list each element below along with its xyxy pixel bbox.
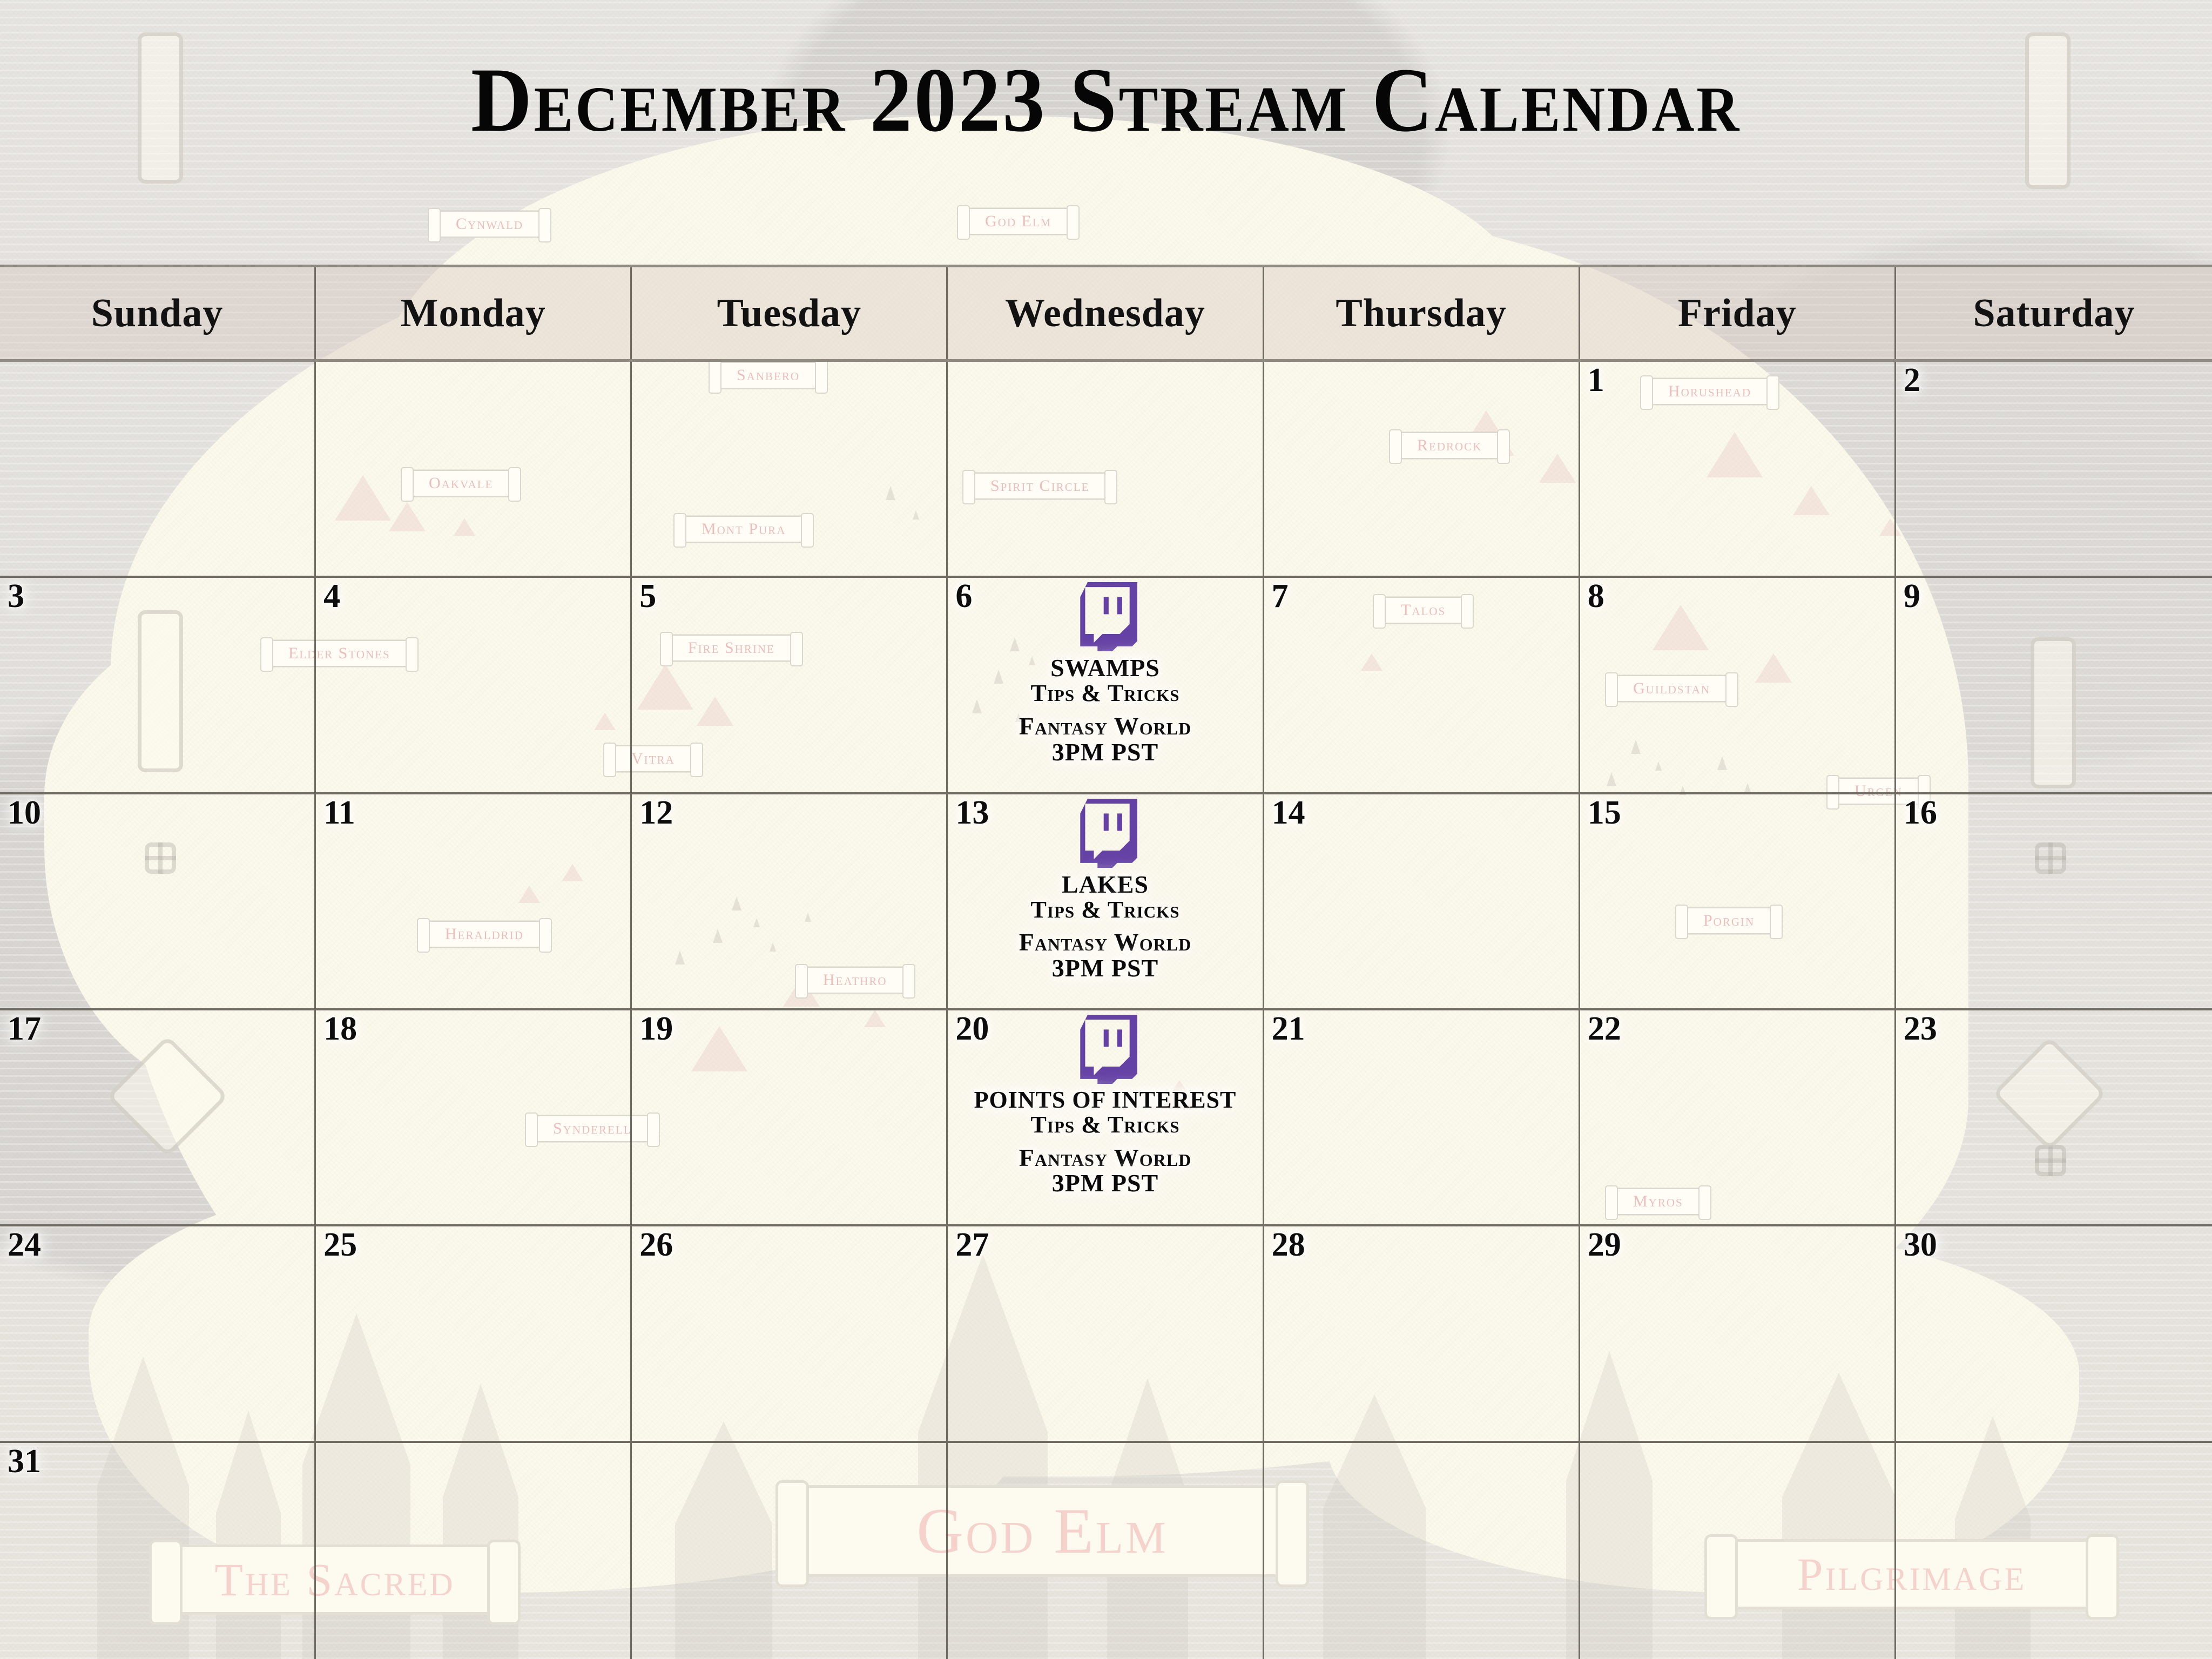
day-number: 18: [323, 1011, 357, 1047]
calendar-page: Cynwald God Elm Sanbero Oakvale Mont Pur…: [0, 0, 2212, 1659]
calendar-day-18[interactable]: 18: [316, 1010, 632, 1224]
weekday-header-thursday: Thursday: [1264, 267, 1580, 359]
weekday-header-wednesday: Wednesday: [948, 267, 1264, 359]
calendar-day-10[interactable]: 10: [0, 794, 316, 1008]
calendar-day-11[interactable]: 11: [316, 794, 632, 1008]
day-number: 30: [1904, 1228, 1937, 1263]
twitch-icon: [1073, 1015, 1137, 1084]
map-place-label: God Elm: [967, 208, 1070, 235]
calendar-day-empty[interactable]: [316, 1443, 632, 1659]
calendar-day-12[interactable]: 12: [632, 794, 948, 1008]
day-number: 10: [8, 795, 41, 831]
day-number: 15: [1588, 795, 1621, 831]
calendar-day-empty[interactable]: [948, 362, 1264, 576]
stream-event[interactable]: LAKESTips & TricksFantasy World3PM PST: [948, 799, 1262, 981]
calendar-day-29[interactable]: 29: [1580, 1226, 1896, 1440]
calendar-day-empty[interactable]: [1896, 1443, 2212, 1659]
event-game-name: Fantasy World: [1019, 713, 1191, 739]
calendar-day-empty[interactable]: [948, 1443, 1264, 1659]
day-number: 19: [639, 1011, 673, 1047]
map-place-label: Cynwald: [437, 211, 542, 238]
day-number: 9: [1904, 579, 1920, 614]
weekday-header-sunday: Sunday: [0, 267, 316, 359]
calendar-day-17[interactable]: 17: [0, 1010, 316, 1224]
calendar-day-13[interactable]: 13 LAKESTips & TricksFantasy World3PM PS…: [948, 794, 1264, 1008]
calendar-day-3[interactable]: 3: [0, 578, 316, 792]
calendar-week-row: 12: [0, 362, 2212, 578]
calendar-day-5[interactable]: 5: [632, 578, 948, 792]
calendar-week-row: 10111213 LAKESTips & TricksFantasy World…: [0, 794, 2212, 1010]
day-number: 1: [1588, 363, 1604, 398]
calendar-day-16[interactable]: 16: [1896, 794, 2212, 1008]
day-number: 28: [1272, 1228, 1305, 1263]
calendar-day-empty[interactable]: [1580, 1443, 1896, 1659]
event-time: 3PM PST: [1052, 1170, 1158, 1196]
day-number: 7: [1272, 579, 1289, 614]
stream-event[interactable]: POINTS OF INTERESTTips & TricksFantasy W…: [948, 1015, 1262, 1196]
calendar-day-6[interactable]: 6 SWAMPSTips & TricksFantasy World3PM PS…: [948, 578, 1264, 792]
calendar-grid: Sunday Monday Tuesday Wednesday Thursday…: [0, 265, 2212, 1659]
event-time: 3PM PST: [1052, 955, 1158, 981]
day-number: 31: [8, 1444, 41, 1479]
calendar-day-4[interactable]: 4: [316, 578, 632, 792]
day-number: 21: [1272, 1011, 1305, 1047]
calendar-week-row: 3456 SWAMPSTips & TricksFantasy World3PM…: [0, 578, 2212, 794]
calendar-day-empty[interactable]: [0, 362, 316, 576]
stream-event[interactable]: SWAMPSTips & TricksFantasy World3PM PST: [948, 582, 1262, 765]
calendar-day-7[interactable]: 7: [1264, 578, 1580, 792]
weekday-header-friday: Friday: [1580, 267, 1896, 359]
twitch-icon: [1073, 799, 1137, 868]
calendar-day-9[interactable]: 9: [1896, 578, 2212, 792]
day-number: 8: [1588, 579, 1604, 614]
calendar-week-row: 31: [0, 1443, 2212, 1659]
day-number: 24: [8, 1228, 41, 1263]
event-title: POINTS OF INTEREST: [974, 1088, 1237, 1112]
calendar-day-empty[interactable]: [316, 362, 632, 576]
day-number: 14: [1272, 795, 1305, 831]
day-number: 26: [639, 1228, 673, 1263]
day-number: 16: [1904, 795, 1937, 831]
calendar-day-25[interactable]: 25: [316, 1226, 632, 1440]
event-title: SWAMPS: [1050, 656, 1160, 681]
calendar-day-empty[interactable]: [1264, 1443, 1580, 1659]
event-game-name: Fantasy World: [1019, 929, 1191, 955]
day-number: 25: [323, 1228, 357, 1263]
day-number: 2: [1904, 363, 1920, 398]
day-number: 11: [323, 795, 355, 831]
calendar-day-8[interactable]: 8: [1580, 578, 1896, 792]
calendar-day-empty[interactable]: [632, 1443, 948, 1659]
day-number: 3: [8, 579, 24, 614]
day-number: 27: [955, 1228, 989, 1263]
day-number: 4: [323, 579, 340, 614]
event-subtitle: Tips & Tricks: [1030, 681, 1179, 706]
calendar-day-28[interactable]: 28: [1264, 1226, 1580, 1440]
calendar-week-row: 17181920 POINTS OF INTERESTTips & Tricks…: [0, 1010, 2212, 1226]
day-number: 29: [1588, 1228, 1621, 1263]
page-title: December 2023 Stream Calendar: [89, 54, 2123, 146]
calendar-day-27[interactable]: 27: [948, 1226, 1264, 1440]
event-time: 3PM PST: [1052, 739, 1158, 765]
day-number: 22: [1588, 1011, 1621, 1047]
event-game-name: Fantasy World: [1019, 1145, 1191, 1171]
weekday-header-tuesday: Tuesday: [632, 267, 948, 359]
day-number: 12: [639, 795, 673, 831]
day-number: 17: [8, 1011, 41, 1047]
event-subtitle: Tips & Tricks: [1030, 898, 1179, 922]
calendar-week-row: 24252627282930: [0, 1226, 2212, 1442]
calendar-day-empty[interactable]: [1264, 362, 1580, 576]
calendar-day-20[interactable]: 20 POINTS OF INTERESTTips & TricksFantas…: [948, 1010, 1264, 1224]
calendar-day-24[interactable]: 24: [0, 1226, 316, 1440]
calendar-day-31[interactable]: 31: [0, 1443, 316, 1659]
day-number: 5: [639, 579, 656, 614]
day-number: 23: [1904, 1011, 1937, 1047]
calendar-day-22[interactable]: 22: [1580, 1010, 1896, 1224]
weekday-header-monday: Monday: [316, 267, 632, 359]
calendar-day-30[interactable]: 30: [1896, 1226, 2212, 1440]
event-subtitle: Tips & Tricks: [1030, 1112, 1179, 1137]
weekday-header-saturday: Saturday: [1896, 267, 2212, 359]
calendar-day-15[interactable]: 15: [1580, 794, 1896, 1008]
calendar-day-empty[interactable]: [632, 362, 948, 576]
calendar-weeks: 123456 SWAMPSTips & TricksFantasy World3…: [0, 362, 2212, 1659]
calendar-day-2[interactable]: 2: [1896, 362, 2212, 576]
calendar-day-19[interactable]: 19: [632, 1010, 948, 1224]
weekday-header-row: Sunday Monday Tuesday Wednesday Thursday…: [0, 265, 2212, 362]
calendar-day-1[interactable]: 1: [1580, 362, 1896, 576]
calendar-day-23[interactable]: 23: [1896, 1010, 2212, 1224]
twitch-icon: [1073, 582, 1137, 651]
calendar-day-21[interactable]: 21: [1264, 1010, 1580, 1224]
event-title: LAKES: [1062, 872, 1149, 898]
calendar-day-26[interactable]: 26: [632, 1226, 948, 1440]
calendar-day-14[interactable]: 14: [1264, 794, 1580, 1008]
